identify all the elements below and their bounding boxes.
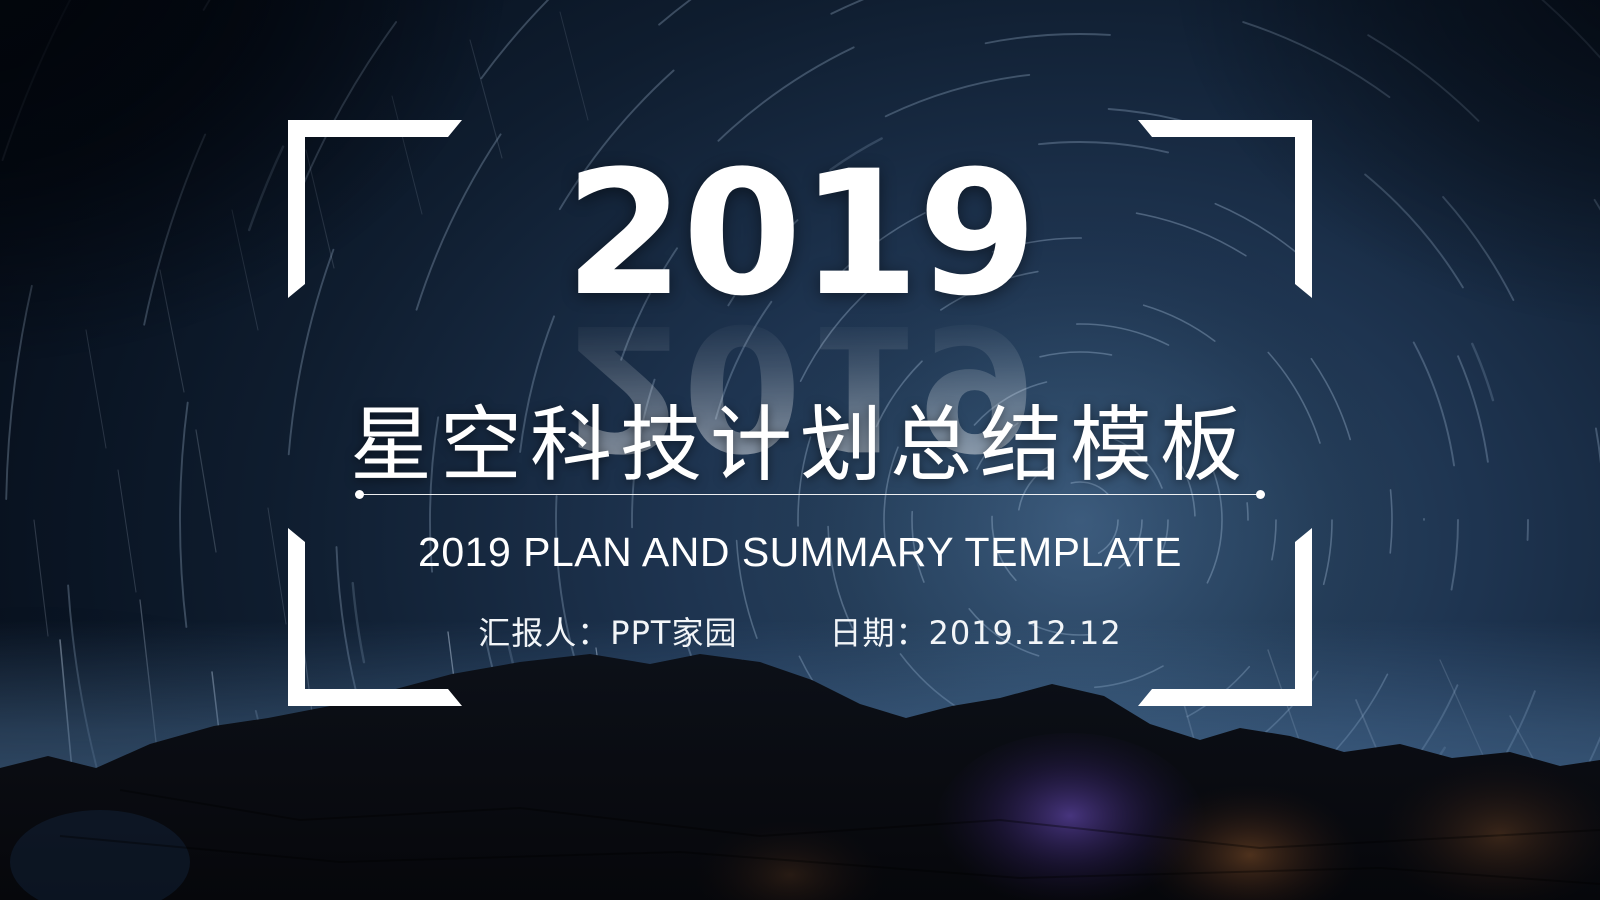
divider-dot-right — [1256, 490, 1265, 499]
year-heading: 2019 — [0, 148, 1600, 320]
divider-rule — [362, 494, 1258, 495]
presentation-title-slide: 2019 2019 星空科技计划总结模板 2019 PLAN AND SUMMA… — [0, 0, 1600, 900]
subtitle-english: 2019 PLAN AND SUMMARY TEMPLATE — [0, 529, 1600, 576]
presenter-label: 汇报人：PPT家园 — [478, 608, 737, 654]
year-text: 2019 — [565, 148, 1036, 320]
main-title-chinese: 星空科技计划总结模板 — [0, 378, 1600, 497]
presenter-date-row: 汇报人：PPT家园 日期：2019.12.12 — [0, 608, 1600, 654]
date-label: 日期：2019.12.12 — [829, 608, 1121, 654]
title-divider — [355, 494, 1265, 496]
slide-content: 2019 2019 星空科技计划总结模板 2019 PLAN AND SUMMA… — [0, 0, 1600, 900]
